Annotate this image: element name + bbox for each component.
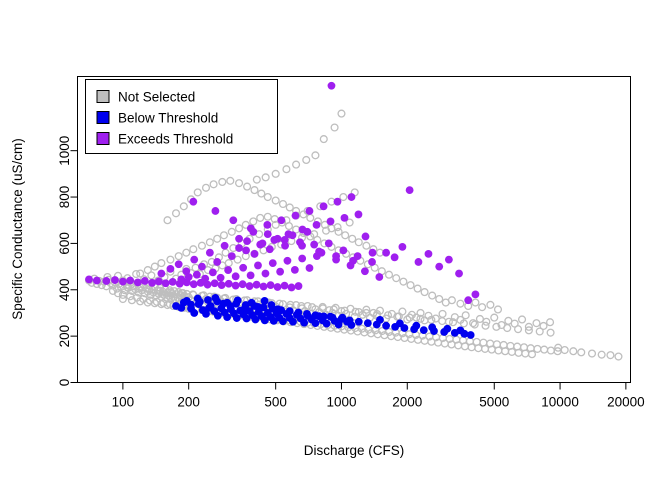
x-tick-label: 1000: [326, 395, 356, 410]
data-point: [328, 82, 336, 90]
data-point: [284, 257, 292, 265]
data-point: [205, 304, 213, 312]
data-point: [320, 313, 328, 321]
data-point: [221, 242, 229, 250]
data-point: [361, 267, 369, 275]
data-point: [467, 331, 475, 339]
data-point: [246, 282, 254, 290]
data-point: [455, 270, 463, 278]
data-point: [204, 296, 212, 304]
data-point: [291, 266, 299, 274]
legend-swatch-exceeds-threshold: [97, 133, 109, 145]
legend-label-not-selected: Not Selected: [118, 90, 195, 105]
data-point: [274, 305, 282, 313]
data-point: [339, 246, 347, 254]
data-point: [300, 319, 308, 327]
data-point: [155, 278, 163, 286]
data-point: [217, 274, 225, 282]
data-point: [243, 237, 251, 245]
y-tick-label: 800: [57, 186, 72, 209]
data-point: [85, 275, 93, 283]
data-point: [93, 277, 101, 285]
data-point: [464, 296, 472, 304]
data-point: [193, 271, 201, 279]
data-point: [355, 211, 363, 219]
data-point: [312, 311, 320, 319]
data-point: [189, 198, 197, 206]
data-point: [355, 318, 363, 326]
data-point: [274, 235, 282, 243]
data-point: [235, 235, 243, 243]
data-point: [375, 273, 383, 281]
data-point: [428, 323, 436, 331]
data-point: [346, 316, 354, 324]
data-point: [338, 315, 346, 323]
data-point: [294, 309, 302, 317]
data-point: [162, 279, 170, 287]
data-point: [260, 283, 268, 291]
data-point: [177, 275, 185, 283]
data-point: [167, 265, 175, 273]
data-point: [126, 277, 134, 285]
data-point: [263, 221, 271, 229]
legend-swatch-below-threshold: [97, 112, 109, 124]
data-point: [229, 216, 237, 224]
data-point: [219, 300, 227, 308]
data-point: [214, 312, 222, 320]
scatter-plot: 1002005001000200050001000020000 02004006…: [0, 0, 672, 480]
y-tick-label: 1000: [57, 136, 72, 166]
data-point: [248, 299, 256, 307]
data-point: [157, 270, 165, 278]
data-point: [369, 249, 377, 257]
data-point: [445, 256, 453, 264]
data-point: [239, 280, 247, 288]
data-point: [185, 273, 193, 281]
data-point: [206, 249, 214, 257]
data-point: [261, 297, 269, 305]
data-point: [443, 325, 451, 333]
data-point: [198, 263, 206, 271]
y-tick-label: 400: [57, 279, 72, 302]
data-point: [310, 241, 318, 249]
data-point: [289, 231, 297, 239]
data-point: [228, 252, 236, 260]
data-point: [382, 249, 390, 257]
data-point: [406, 186, 414, 194]
data-point: [196, 298, 204, 306]
data-point: [266, 245, 274, 253]
y-tick-label: 0: [57, 379, 72, 387]
data-point: [187, 301, 195, 309]
legend-swatch-not-selected: [97, 91, 109, 103]
data-point: [281, 242, 289, 250]
data-point: [425, 250, 433, 258]
data-point: [472, 291, 480, 299]
data-point: [148, 279, 156, 287]
data-point: [141, 277, 149, 285]
data-point: [211, 279, 219, 287]
data-point: [242, 246, 250, 254]
data-point: [169, 278, 177, 286]
data-point: [457, 326, 465, 334]
data-point: [232, 272, 240, 280]
data-point: [354, 252, 362, 260]
data-point: [296, 238, 304, 246]
data-point: [376, 316, 384, 324]
data-point: [286, 307, 294, 315]
data-point: [233, 314, 241, 322]
data-point: [201, 275, 209, 283]
y-tick-label: 600: [57, 232, 72, 255]
data-point: [235, 244, 243, 252]
data-point: [241, 305, 249, 313]
data-point: [251, 250, 259, 258]
data-point: [323, 320, 331, 328]
data-point: [268, 301, 276, 309]
data-point: [420, 326, 428, 334]
data-point: [212, 207, 220, 215]
y-tick-label: 200: [57, 325, 72, 348]
data-point: [247, 272, 255, 280]
data-point: [306, 264, 314, 272]
data-point: [190, 256, 198, 264]
x-tick-label: 100: [112, 395, 135, 410]
data-point: [329, 314, 337, 322]
data-point: [347, 262, 355, 270]
x-tick-label: 500: [264, 395, 287, 410]
data-point: [341, 214, 349, 222]
data-point: [292, 212, 300, 220]
data-point: [289, 318, 297, 326]
data-point: [212, 294, 220, 302]
data-point: [412, 322, 420, 330]
data-point: [254, 303, 262, 311]
data-point: [396, 319, 404, 327]
data-point: [295, 282, 303, 290]
data-point: [320, 202, 328, 210]
legend-label-below-threshold: Below Threshold: [118, 111, 218, 126]
data-point: [318, 249, 326, 257]
x-tick-label: 200: [177, 395, 200, 410]
data-point: [303, 228, 311, 236]
data-point: [190, 309, 198, 317]
data-point: [254, 262, 262, 270]
data-point: [223, 313, 231, 321]
data-point: [327, 217, 335, 225]
data-point: [102, 277, 110, 285]
data-point: [253, 281, 261, 289]
data-point: [262, 270, 270, 278]
chart-root: 1002005001000200050001000020000 02004006…: [0, 0, 672, 480]
x-tick-label: 10000: [541, 395, 579, 410]
data-point: [364, 319, 372, 327]
data-point: [218, 281, 226, 289]
data-point: [368, 258, 376, 266]
data-point: [259, 240, 267, 248]
data-point: [180, 299, 188, 307]
data-point: [190, 280, 198, 288]
data-point: [267, 281, 275, 289]
data-point: [298, 255, 306, 263]
data-point: [232, 282, 240, 290]
data-point: [175, 260, 183, 268]
x-tick-label: 2000: [392, 395, 422, 410]
data-point: [348, 193, 356, 201]
data-point: [288, 284, 296, 292]
data-point: [276, 268, 284, 276]
data-point: [134, 278, 142, 286]
data-point: [281, 282, 289, 290]
legend: Not SelectedBelow ThresholdExceeds Thres…: [86, 80, 278, 154]
data-point: [234, 297, 242, 305]
data-point: [209, 268, 217, 276]
data-point: [224, 266, 232, 274]
data-point: [391, 253, 399, 261]
data-point: [435, 263, 443, 271]
data-point: [274, 283, 282, 291]
legend-label-exceeds-threshold: Exceeds Threshold: [118, 132, 233, 147]
data-point: [334, 198, 342, 206]
x-tick-label: 5000: [479, 395, 509, 410]
data-point: [269, 259, 277, 267]
data-point: [277, 216, 285, 224]
data-point: [415, 258, 423, 266]
data-point: [213, 258, 221, 266]
data-point: [399, 243, 407, 251]
data-point: [312, 319, 320, 327]
y-axis-label: Specific Conductance (uS/cm): [10, 138, 25, 320]
data-point: [332, 256, 340, 264]
data-point: [239, 264, 247, 272]
data-point: [119, 278, 127, 286]
data-point: [306, 207, 314, 215]
data-point: [247, 224, 255, 232]
data-point: [382, 322, 390, 330]
data-point: [313, 221, 321, 229]
data-point: [226, 302, 234, 310]
x-tick-label: 20000: [607, 395, 645, 410]
data-point: [325, 240, 333, 248]
x-axis-label: Discharge (CFS): [304, 443, 405, 458]
data-point: [303, 310, 311, 318]
data-point: [279, 317, 287, 325]
data-point: [111, 276, 119, 284]
data-point: [362, 233, 370, 241]
data-point: [225, 280, 233, 288]
data-point: [264, 230, 272, 238]
